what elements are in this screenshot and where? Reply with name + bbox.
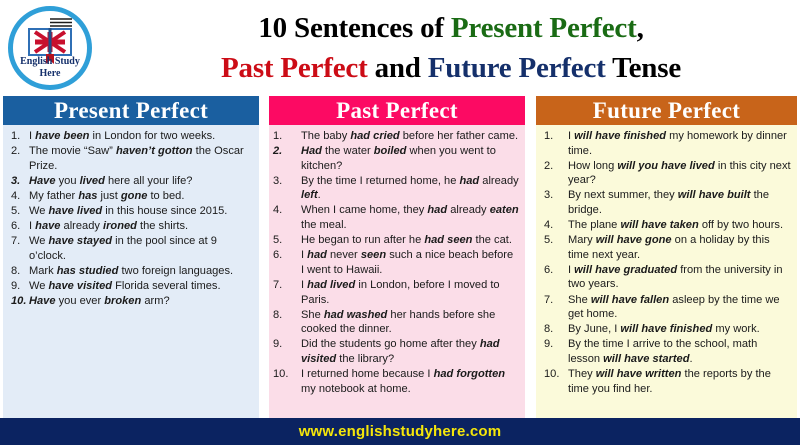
- sentence-text: to bed.: [147, 190, 184, 202]
- sentence-list-future-perfect: I will have finished my homework by dinn…: [538, 129, 791, 396]
- sentence-text: the library?: [336, 353, 394, 365]
- highlighted-verb: left: [301, 189, 318, 201]
- highlighted-verb: had washed: [324, 309, 388, 321]
- sentence-item: The movie “Saw” haven’t gotton the Oscar…: [5, 144, 253, 173]
- sentence-item: The baby had cried before her father cam…: [271, 129, 519, 144]
- sentence-item: By June, I will have finished my work.: [538, 322, 791, 337]
- sentence-item: Did the students go home after they had …: [271, 337, 519, 366]
- sentence-item: We have visited Florida several times.: [5, 279, 253, 294]
- title-past-perfect: Past Perfect: [221, 52, 368, 84]
- logo-text-line2: Here: [8, 68, 92, 80]
- book-flag-icon: [8, 6, 100, 98]
- sentence-item: When I came home, they had already eaten…: [271, 203, 519, 232]
- column-heading-past-perfect: Past Perfect: [269, 96, 525, 125]
- sentence-text: the water: [322, 145, 374, 157]
- sentence-item: I returned home because I had forgotten …: [271, 367, 519, 396]
- website-url[interactable]: www.englishstudyhere.com: [299, 423, 502, 440]
- page-header: English Study Here 10 Sentences of Prese…: [0, 0, 800, 96]
- sentence-text: Did the students go home after they: [301, 338, 480, 350]
- highlighted-verb: haven’t gotton: [116, 145, 193, 157]
- highlighted-verb: had: [427, 204, 447, 216]
- column-heading-future-perfect: Future Perfect: [536, 96, 797, 125]
- highlighted-verb: eaten: [490, 204, 519, 216]
- sentence-item: How long will you have lived in this cit…: [538, 159, 791, 188]
- title-and: and: [368, 52, 428, 84]
- sentence-item: We have lived in this house since 2015.: [5, 204, 253, 219]
- sentence-text: .: [689, 353, 692, 365]
- sentence-text: here all your life?: [105, 175, 193, 187]
- title-future-perfect: Future Perfect: [428, 52, 606, 84]
- highlighted-verb: will have gone: [596, 234, 672, 246]
- sentence-text: Mary: [568, 234, 596, 246]
- title-prefix: 10 Sentences of: [258, 12, 451, 44]
- sentence-text: He began to run after he: [301, 234, 424, 246]
- highlighted-verb: have: [35, 220, 60, 232]
- sentence-item: Had the water boiled when you went to ki…: [271, 144, 519, 173]
- sentence-item: Mark has studied two foreign languages.: [5, 264, 253, 279]
- sentence-text: just: [97, 190, 120, 202]
- sentence-item: By the time I returned home, he had alre…: [271, 174, 519, 203]
- sentence-text: my notebook at home.: [301, 383, 411, 395]
- title-line-1: 10 Sentences of Present Perfect,: [258, 8, 643, 48]
- sentence-item: By next summer, they will have built the…: [538, 188, 791, 217]
- tense-columns: Present Perfect I have been in London fo…: [0, 96, 800, 418]
- sentence-text: the meal.: [301, 219, 347, 231]
- sentence-text: you: [56, 175, 80, 187]
- sentence-text: in London for two weeks.: [89, 130, 215, 142]
- highlighted-verb: has: [78, 190, 97, 202]
- highlighted-verb: seen: [361, 249, 386, 261]
- sentence-text: I returned home because I: [301, 368, 434, 380]
- sentence-item: The plane will have taken off by two hou…: [538, 218, 791, 233]
- sentence-text: We: [29, 205, 49, 217]
- highlighted-verb: broken: [104, 295, 141, 307]
- sentence-text: How long: [568, 160, 617, 172]
- sentence-item: We have stayed in the pool since at 9 o’…: [5, 234, 253, 263]
- sentence-text: arm?: [141, 295, 169, 307]
- column-body-past-perfect: The baby had cried before her father cam…: [269, 125, 525, 418]
- highlighted-verb: had: [307, 249, 327, 261]
- sentence-item: My father has just gone to bed.: [5, 189, 253, 204]
- sentence-item: I had lived in London, before I moved to…: [271, 278, 519, 307]
- sentence-text: When I came home, they: [301, 204, 427, 216]
- highlighted-verb: will have fallen: [591, 294, 669, 306]
- sentence-text: already: [447, 204, 490, 216]
- sentence-text: We: [29, 235, 49, 247]
- highlighted-verb: will have finished: [574, 130, 666, 142]
- highlighted-verb: ironed: [103, 220, 137, 232]
- sentence-text: already: [479, 175, 518, 187]
- title-line-2: Past Perfect and Future Perfect Tense: [221, 48, 681, 88]
- sentence-list-past-perfect: The baby had cried before her father cam…: [271, 129, 519, 396]
- sentence-item: I have already ironed the shirts.: [5, 219, 253, 234]
- highlighted-verb: will have built: [678, 189, 751, 201]
- sentence-text: By the time I returned home, he: [301, 175, 459, 187]
- sentence-text: By June, I: [568, 323, 620, 335]
- sentence-item: He began to run after he had seen the ca…: [271, 233, 519, 248]
- highlighted-verb: Had: [301, 145, 322, 157]
- sentence-text: Florida several times.: [112, 280, 221, 292]
- highlighted-verb: will have graduated: [574, 264, 677, 276]
- sentence-item: She will have fallen asleep by the time …: [538, 293, 791, 322]
- page-title: 10 Sentences of Present Perfect, Past Pe…: [104, 2, 798, 94]
- sentence-item: Mary will have gone on a holiday by this…: [538, 233, 791, 262]
- highlighted-verb: have lived: [49, 205, 103, 217]
- sentence-text: my work.: [712, 323, 759, 335]
- sentence-item: I had never seen such a nice beach befor…: [271, 248, 519, 277]
- sentence-text: the shirts.: [137, 220, 188, 232]
- highlighted-verb: have visited: [49, 280, 113, 292]
- sentence-item: They will have written the reports by th…: [538, 367, 791, 396]
- sentence-text: never: [327, 249, 361, 261]
- column-past-perfect: Past Perfect The baby had cried before h…: [269, 96, 525, 418]
- highlighted-verb: will have written: [596, 368, 682, 380]
- sentence-text: The plane: [568, 219, 620, 231]
- highlighted-verb: will have started: [603, 353, 689, 365]
- highlighted-verb: lived: [80, 175, 105, 187]
- column-present-perfect: Present Perfect I have been in London fo…: [3, 96, 259, 418]
- column-heading-present-perfect: Present Perfect: [3, 96, 259, 125]
- sentence-text: Mark: [29, 265, 57, 277]
- highlighted-verb: had lived: [307, 279, 355, 291]
- title-present-perfect: Present Perfect: [451, 12, 637, 44]
- column-body-future-perfect: I will have finished my homework by dinn…: [536, 125, 797, 418]
- sentence-item: I will have graduated from the universit…: [538, 263, 791, 292]
- sentence-item: She had washed her hands before she cook…: [271, 308, 519, 337]
- sentence-text: two foreign languages.: [118, 265, 233, 277]
- sentence-item: Have you ever broken arm?: [5, 294, 253, 309]
- highlighted-verb: had: [459, 175, 479, 187]
- sentence-text: before her father came.: [400, 130, 518, 142]
- highlighted-verb: gone: [121, 190, 148, 202]
- sentence-item: Have you lived here all your life?: [5, 174, 253, 189]
- highlighted-verb: have been: [35, 130, 89, 142]
- sentence-text: The movie “Saw”: [29, 145, 116, 157]
- highlighted-verb: had cried: [350, 130, 399, 142]
- sentence-text: By next summer, they: [568, 189, 678, 201]
- highlighted-verb: have stayed: [49, 235, 113, 247]
- sentence-text: They: [568, 368, 596, 380]
- highlighted-verb: had forgotten: [434, 368, 505, 380]
- sentence-text: you ever: [56, 295, 105, 307]
- title-suffix: Tense: [606, 52, 681, 84]
- sentence-text: in this house since 2015.: [102, 205, 227, 217]
- sentence-item: I have been in London for two weeks.: [5, 129, 253, 144]
- column-body-present-perfect: I have been in London for two weeks.The …: [3, 125, 259, 418]
- highlighted-verb: boiled: [374, 145, 407, 157]
- site-logo: English Study Here: [8, 6, 100, 98]
- sentence-item: I will have finished my homework by dinn…: [538, 129, 791, 158]
- highlighted-verb: had seen: [424, 234, 472, 246]
- highlighted-verb: Have: [29, 175, 56, 187]
- sentence-list-present-perfect: I have been in London for two weeks.The …: [5, 129, 253, 309]
- sentence-item: By the time I arrive to the school, math…: [538, 337, 791, 366]
- sentence-text: off by two hours.: [699, 219, 783, 231]
- sentence-text: already: [60, 220, 103, 232]
- highlighted-verb: will have finished: [620, 323, 712, 335]
- sentence-text: We: [29, 280, 49, 292]
- logo-text-line1: English Study: [8, 56, 92, 68]
- highlighted-verb: will you have lived: [617, 160, 714, 172]
- sentence-text: .: [318, 189, 321, 201]
- footer-bar: www.englishstudyhere.com: [0, 418, 800, 445]
- sentence-text: She: [301, 309, 324, 321]
- title-comma: ,: [637, 12, 644, 44]
- highlighted-verb: Have: [29, 295, 56, 307]
- sentence-text: the cat.: [472, 234, 511, 246]
- sentence-text: She: [568, 294, 591, 306]
- sentence-text: My father: [29, 190, 78, 202]
- column-future-perfect: Future Perfect I will have finished my h…: [536, 96, 797, 418]
- sentence-text: The baby: [301, 130, 350, 142]
- highlighted-verb: will have taken: [620, 219, 698, 231]
- highlighted-verb: has studied: [57, 265, 119, 277]
